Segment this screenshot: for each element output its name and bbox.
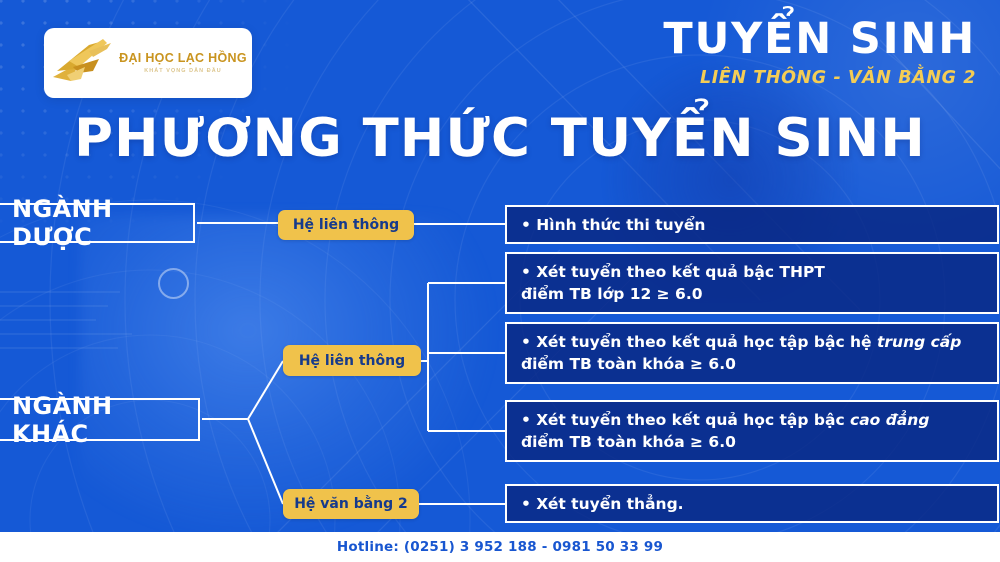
category-nganh-khac[interactable]: NGÀNH KHÁC <box>0 398 200 441</box>
info-line: • Xét tuyển theo kết quả học tập bậc cao… <box>521 409 991 431</box>
stage-lien-thong-duoc-label: Hệ liên thông <box>293 217 399 233</box>
kicker-sub-text: LIÊN THÔNG - VĂN BẰNG 2 <box>663 68 976 88</box>
category-nganh-duoc[interactable]: NGÀNH DƯỢC <box>0 203 195 243</box>
logo-university-name: ĐẠI HỌC LẠC HỒNG <box>119 52 247 66</box>
info-xet-tuyen-thpt: • Xét tuyển theo kết quả bậc THPT điểm T… <box>505 252 999 314</box>
info-line-emphasis: cao đẳng <box>850 411 929 429</box>
info-line: • Xét tuyển theo kết quả bậc THPT <box>521 261 991 283</box>
info-line-emphasis: trung cấp <box>877 333 961 351</box>
kicker-main-text: TUYỂN SINH <box>663 18 976 61</box>
info-line: • Hình thức thi tuyển <box>521 214 991 236</box>
info-xet-tuyen-thang: • Xét tuyển thẳng. <box>505 484 999 523</box>
stage-van-bang-2[interactable]: Hệ văn bằng 2 <box>283 489 419 519</box>
ring-accent-icon <box>158 268 189 299</box>
info-line: • Xét tuyển thẳng. <box>521 493 991 515</box>
info-line: điểm TB toàn khóa ≥ 6.0 <box>521 431 991 453</box>
info-line: • Xét tuyển theo kết quả học tập bậc hệ … <box>521 331 991 353</box>
page-title: PHƯƠNG THỨC TUYỂN SINH <box>0 108 1000 169</box>
info-line: điểm TB toàn khóa ≥ 6.0 <box>521 353 991 375</box>
category-nganh-duoc-label: NGÀNH DƯỢC <box>12 195 179 251</box>
info-xet-tuyen-cao-dang: • Xét tuyển theo kết quả học tập bậc cao… <box>505 400 999 462</box>
stage-van-bang-2-label: Hệ văn bằng 2 <box>294 496 408 512</box>
poster-canvas: ĐẠI HỌC LẠC HỒNG KHÁT VỌNG DẪN ĐẦU TUYỂN… <box>0 0 1000 562</box>
info-xet-tuyen-trung-cap: • Xét tuyển theo kết quả học tập bậc hệ … <box>505 322 999 384</box>
stage-lien-thong-duoc[interactable]: Hệ liên thông <box>278 210 414 240</box>
info-line-text: • Xét tuyển theo kết quả học tập bậc <box>521 411 850 429</box>
university-logo-card: ĐẠI HỌC LẠC HỒNG KHÁT VỌNG DẪN ĐẦU <box>44 28 252 98</box>
hotline-text: Hotline: (0251) 3 952 188 - 0981 50 33 9… <box>337 539 663 555</box>
lac-hong-bird-logo-icon <box>49 37 115 89</box>
stage-lien-thong-khac-label: Hệ liên thông <box>299 353 405 369</box>
info-line-text: • Xét tuyển theo kết quả học tập bậc hệ <box>521 333 877 351</box>
stage-lien-thong-khac[interactable]: Hệ liên thông <box>283 345 421 376</box>
category-nganh-khac-label: NGÀNH KHÁC <box>12 392 184 448</box>
admissions-kicker: TUYỂN SINH LIÊN THÔNG - VĂN BẰNG 2 <box>663 18 976 88</box>
footer-bar: Hotline: (0251) 3 952 188 - 0981 50 33 9… <box>0 532 1000 562</box>
logo-tagline: KHÁT VỌNG DẪN ĐẦU <box>144 68 221 74</box>
info-hinh-thuc-thi-tuyen: • Hình thức thi tuyển <box>505 205 999 244</box>
info-line: điểm TB lớp 12 ≥ 6.0 <box>521 283 991 305</box>
